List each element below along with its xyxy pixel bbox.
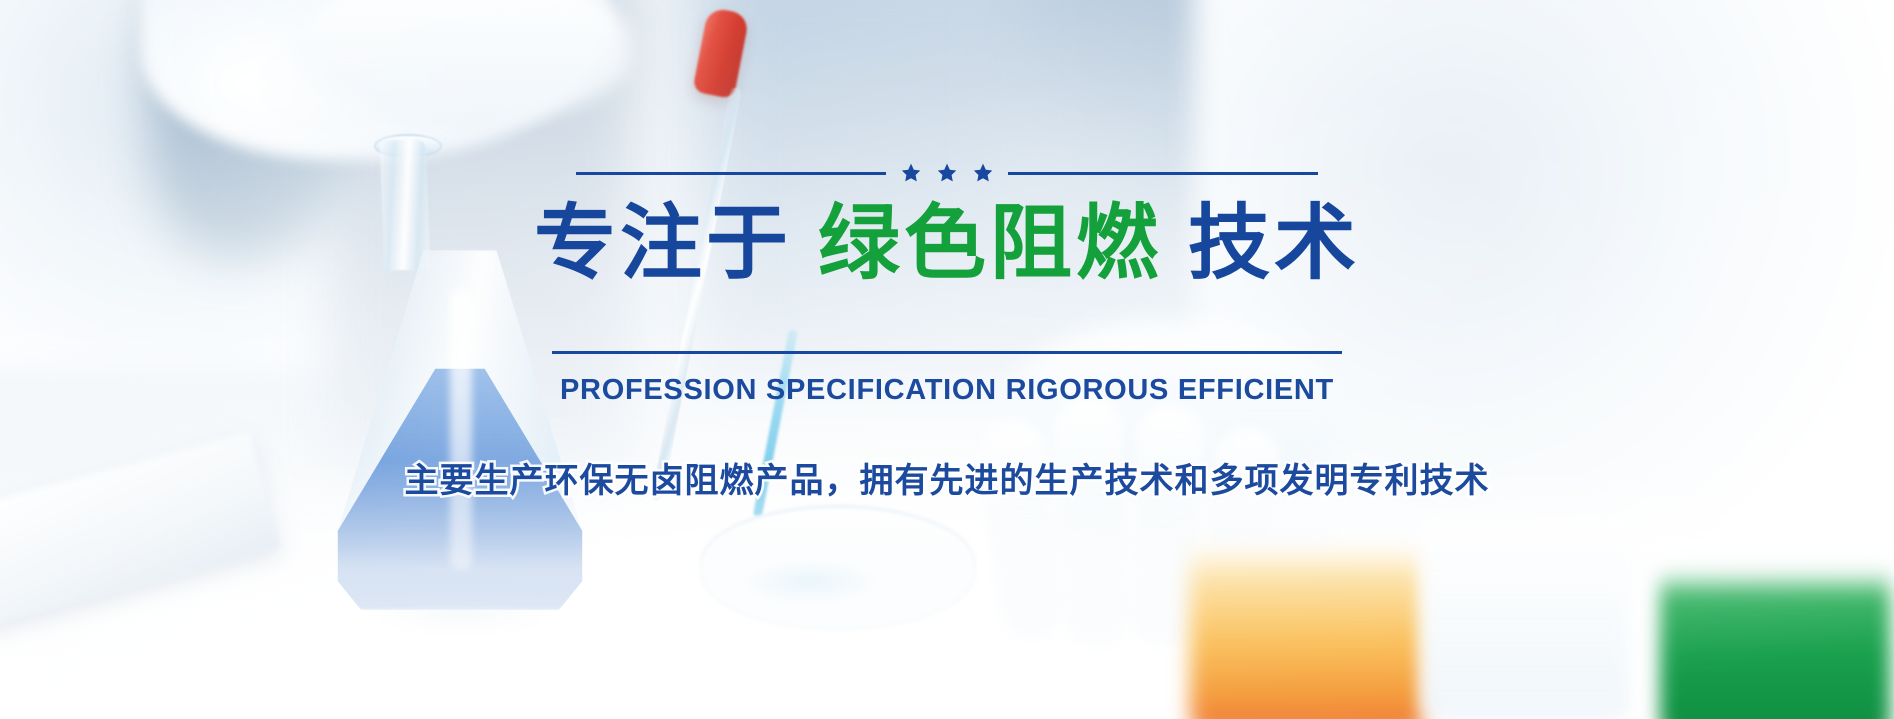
beaker-orange-liquid xyxy=(1190,545,1425,719)
headline-part-1: 专注于 xyxy=(534,198,792,290)
beaker-green-liquid xyxy=(1660,570,1890,719)
headline-part-3: 技术 xyxy=(1188,198,1360,290)
hero-banner: 专注于 绿色阻燃 技术 PROFESSION SPECIFICATION RIG… xyxy=(0,0,1894,719)
beaker-clear xyxy=(1420,520,1630,719)
star-icon xyxy=(972,162,994,184)
banner-description-chinese: 主要生产环保无卤阻燃产品，拥有先进的生产技术和多项发明专利技术 xyxy=(405,453,1490,502)
divider-rule-left xyxy=(576,172,886,175)
headline-part-2: 绿色阻燃 xyxy=(818,198,1162,290)
star-icon xyxy=(900,162,922,184)
divider-rule-right xyxy=(1008,172,1318,175)
banner-subtitle-english: PROFESSION SPECIFICATION RIGOROUS EFFICI… xyxy=(560,374,1334,407)
star-icon xyxy=(936,162,958,184)
divider-stars xyxy=(900,162,994,184)
headline-underline xyxy=(552,351,1342,354)
banner-headline: 专注于 绿色阻燃 技术 xyxy=(534,198,1360,290)
banner-content: 专注于 绿色阻燃 技术 PROFESSION SPECIFICATION RIG… xyxy=(0,162,1894,502)
ornamental-divider xyxy=(552,162,1342,184)
